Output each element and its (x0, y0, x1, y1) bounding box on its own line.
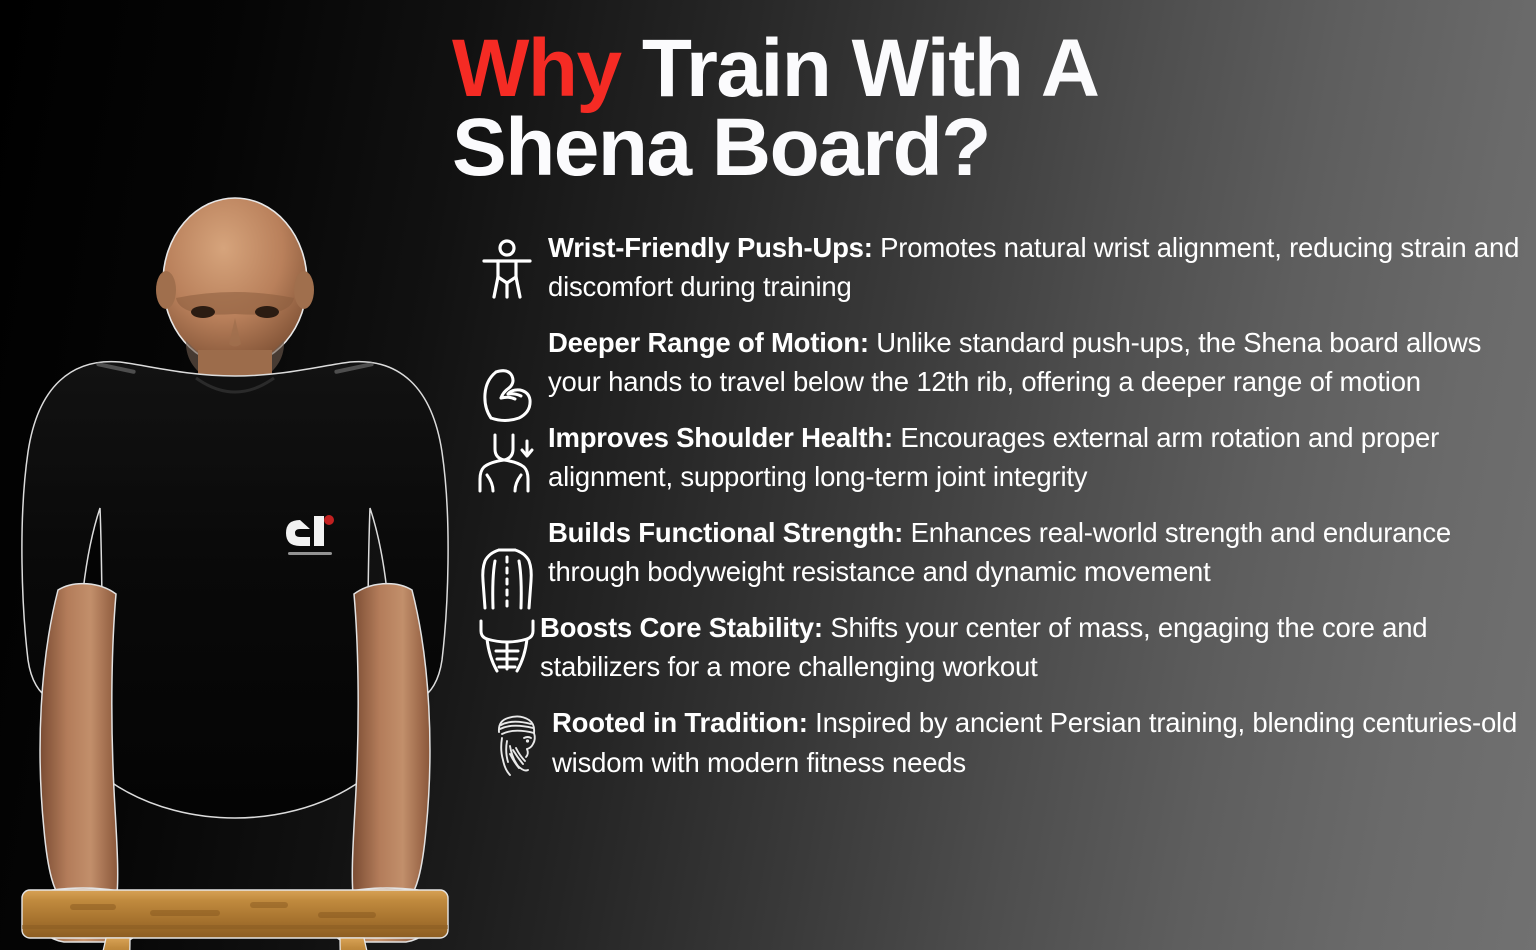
list-item-text: Boosts Core Stability: Shifts your cente… (540, 608, 1526, 686)
list-item-text: Rooted in Tradition: Inspired by ancient… (552, 703, 1526, 781)
list-item: Wrist-Friendly Push-Ups: Promotes natura… (470, 228, 1526, 306)
abdominal-core-icon (476, 610, 538, 682)
shoulder-alignment-icon (476, 426, 538, 498)
list-item-title: Builds Functional Strength: (548, 517, 903, 548)
list-item-title: Deeper Range of Motion: (548, 327, 869, 358)
list-item-title: Boosts Core Stability: (540, 612, 823, 643)
headline-line-1: Why Train With A (452, 30, 1512, 109)
list-item-text: Improves Shoulder Health: Encourages ext… (548, 418, 1526, 496)
list-item-text: Wrist-Friendly Push-Ups: Promotes natura… (548, 228, 1526, 306)
page-title: Why Train With A Shena Board? (452, 30, 1512, 187)
list-item: Builds Functional Strength: Enhances rea… (470, 513, 1526, 591)
list-item-text: Builds Functional Strength: Enhances rea… (548, 513, 1526, 591)
list-item: Deeper Range of Motion: Unlike standard … (470, 323, 1526, 401)
headline-line-2: Shena Board? (452, 109, 1512, 188)
list-item-title: Wrist-Friendly Push-Ups: (548, 232, 873, 263)
athlete-photo (0, 190, 470, 950)
list-item: Rooted in Tradition: Inspired by ancient… (470, 703, 1526, 781)
benefits-list: Wrist-Friendly Push-Ups: Promotes natura… (470, 228, 1526, 782)
list-item: Improves Shoulder Health: Encourages ext… (470, 418, 1526, 496)
list-item-text: Deeper Range of Motion: Unlike standard … (548, 323, 1526, 401)
list-item: Boosts Core Stability: Shifts your cente… (470, 608, 1526, 686)
headline-highlight: Why (452, 23, 621, 114)
spine-back-icon (476, 543, 538, 615)
list-item-title: Improves Shoulder Health: (548, 422, 893, 453)
standing-person-icon (476, 234, 538, 306)
list-item-title: Rooted in Tradition: (552, 707, 808, 738)
persian-warrior-icon (484, 709, 546, 781)
headline-line-1-rest: Train With A (621, 23, 1099, 114)
poster-canvas: Why Train With A Shena Board? Wrist-Frie… (0, 0, 1536, 950)
